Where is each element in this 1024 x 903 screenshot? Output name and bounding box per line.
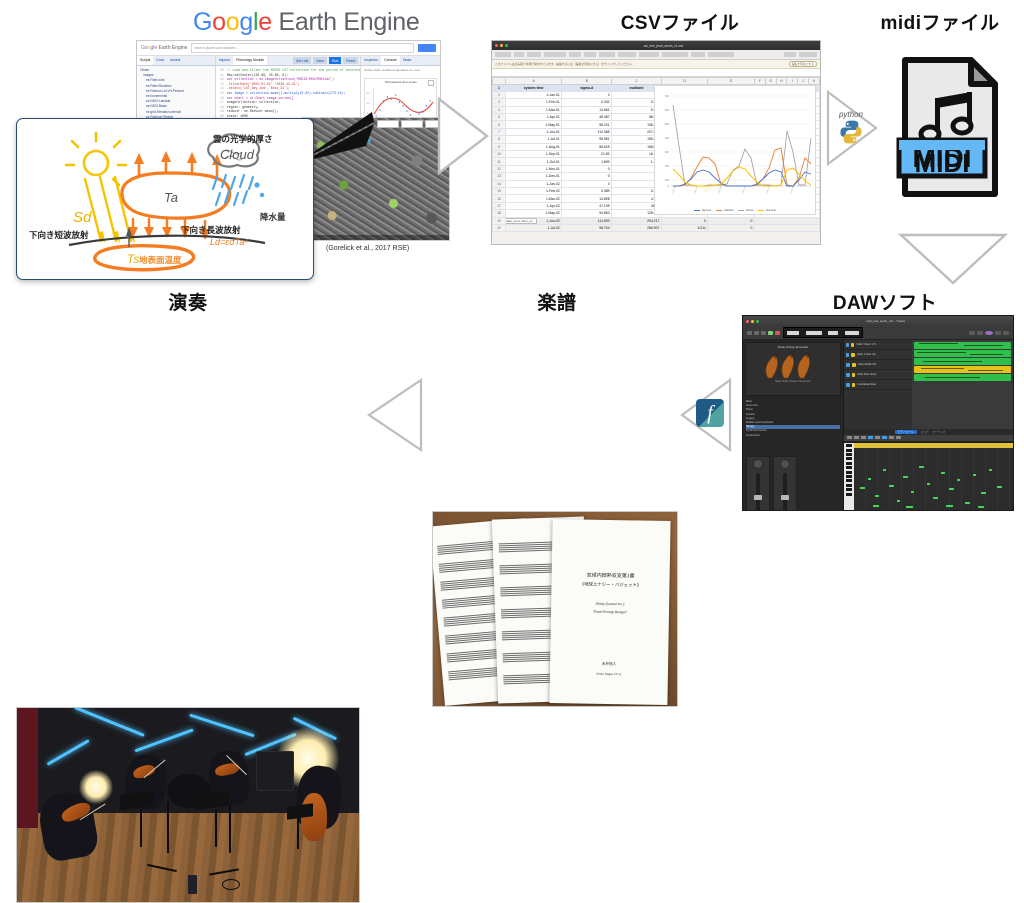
label-longwave-down: 下向き長波放射 — [181, 224, 241, 236]
svg-text:200: 200 — [665, 164, 670, 168]
cell-date: 1-Apr-02 — [506, 202, 562, 209]
svg-text:700: 700 — [665, 94, 670, 98]
mute-button[interactable] — [846, 363, 850, 367]
transport-rewind[interactable] — [747, 331, 752, 335]
stage-curtain — [17, 708, 38, 828]
gee-right-tabs[interactable]: Inspector Console Tasks — [361, 56, 440, 66]
track-header-row[interactable]: Viola Studio Strings — [844, 360, 912, 370]
mic-stand — [229, 805, 231, 853]
svg-text:300: 300 — [665, 150, 670, 154]
piano-roll-toolbar[interactable] — [844, 435, 1013, 442]
embedded-line-chart[interactable]: 700600 500400 300200 1000 1-Jan-01 — [654, 85, 816, 215]
cell-sigma: 21.83 — [562, 151, 612, 158]
svg-text:0.6: 0.6 — [367, 93, 371, 95]
transport-stop[interactable] — [761, 331, 766, 335]
heading-daw: DAWソフト — [805, 288, 965, 315]
svg-text:600: 600 — [665, 108, 670, 112]
music-stand-pole — [297, 819, 299, 849]
transport-play[interactable] — [768, 331, 773, 335]
legend-item: showa — [738, 209, 753, 212]
midi-badge-label: MIDI — [899, 150, 985, 176]
mute-button[interactable] — [846, 373, 850, 377]
spreadsheet-ribbon[interactable] — [492, 50, 820, 60]
mute-button[interactable] — [846, 383, 850, 387]
neon-light — [189, 713, 255, 737]
cell-header-sigma[interactable]: sigma-d — [562, 84, 612, 91]
solo-button[interactable] — [852, 373, 856, 377]
track-header-row[interactable]: Contrabass Ensemble — [844, 380, 912, 390]
cell-svalbard: 254.217 — [612, 217, 662, 224]
legend-item: sigma-d — [694, 209, 711, 212]
piano-roll-grid[interactable] — [854, 448, 1013, 511]
cell-date: 1-Jun-02 — [506, 217, 562, 224]
cell-sigma: 98.764 — [562, 224, 612, 231]
violin-artwork-icon — [758, 350, 828, 380]
daw-title-bar: midi_and_audio_mix - Tracks — [743, 316, 1013, 326]
score-title-page: 気候内部熱収支第1番 《地球エナジー・バジェット》 String Quartet… — [549, 519, 670, 705]
transport-lcd-display[interactable] — [783, 327, 863, 338]
finale-logo-icon: f — [696, 399, 724, 427]
finale-letter: f — [707, 402, 713, 425]
label-shortwave-down: 下向き短波放射 — [29, 229, 89, 241]
label-precipitation: 降水量 — [260, 211, 286, 223]
tab-docs[interactable]: Docs — [153, 56, 167, 65]
sheet-music-photo: 気候内部熱収支第1番 《地球エナジー・バジェット》 String Quartet… — [432, 511, 678, 707]
tab-audio[interactable]: オーディオ — [932, 430, 945, 434]
cell-date: 1-Jun-01 — [506, 128, 562, 135]
python-label: python — [828, 110, 874, 119]
midi-region[interactable] — [914, 358, 1011, 365]
legend-item: domefuji — [758, 209, 775, 212]
mute-button[interactable] — [846, 353, 849, 357]
library-category[interactable]: Synthesizer — [746, 434, 840, 438]
maximize-icon[interactable] — [756, 320, 759, 323]
cell-sigma: 1.609 — [562, 158, 612, 165]
svg-text:0.4: 0.4 — [367, 103, 371, 105]
button-reset[interactable]: Reset — [343, 57, 358, 64]
volume-fader[interactable] — [756, 473, 760, 511]
svg-text:100: 100 — [665, 178, 670, 182]
cell-sigma: 0.389 — [562, 187, 612, 194]
tab-phenology-module[interactable]: Phenology Module — [233, 56, 267, 65]
cell-date: 1-Oct-01 — [506, 158, 562, 165]
cell-date: 1-Nov-01 — [506, 165, 562, 172]
arrange-area[interactable]: Violin 1 Sect. 2 Studio Str. Violin 2 Se… — [844, 340, 1013, 429]
cable-coil — [222, 879, 240, 890]
button-save[interactable]: Save — [313, 57, 327, 64]
cell-date: 1-Jul-02 — [506, 224, 562, 231]
minimize-icon[interactable] — [500, 44, 503, 47]
maximize-icon[interactable] — [505, 44, 508, 47]
solo-button[interactable] — [851, 343, 854, 347]
citation-text: (Gorelick et al., 2017 RSE) — [326, 245, 409, 252]
score-author-jp: 永井拓人 — [550, 661, 668, 668]
arrow-score-to-performance — [367, 378, 423, 452]
label-surface-temperature: 地表面温度 — [139, 254, 182, 266]
spreadsheet-window[interactable]: sw_rise_prod_anom_v1.csv このファイルは読み取り専用で開… — [491, 40, 821, 245]
cell-sigma: 98.241 — [562, 121, 612, 128]
label-ts: Ts — [127, 252, 139, 266]
music-stand-pole — [215, 809, 217, 847]
label-cloud: Cloud — [220, 147, 254, 162]
arrange-regions[interactable] — [912, 340, 1013, 429]
guitar-amp — [256, 751, 294, 791]
cell-date: 1-Apr-01 — [506, 114, 562, 121]
track-header-row[interactable]: Violin 2 Sect. Ensemble — [844, 350, 912, 360]
cell-date: 1-Sep-01 — [506, 151, 562, 158]
label-longwave-formula: Ld=εσTa⁴ — [210, 237, 248, 247]
daw-left-pane[interactable]: Studio Strings Ensemble Mass Violin Clas… — [743, 340, 844, 511]
midi-region[interactable] — [914, 350, 1011, 357]
table-row[interactable]: 201-Jul-0298.764266.9076.2110 — [493, 224, 820, 231]
cell-sigma: 0 — [562, 91, 612, 98]
legend-item: svalbard — [716, 209, 733, 212]
table-row[interactable]: 191-Jun-02111.509254.21700 — [493, 217, 820, 224]
svg-text:1-Jan-05: 1-Jan-05 — [766, 185, 771, 194]
cell-sigma: 0 — [562, 180, 612, 187]
map-attribution — [303, 235, 449, 240]
music-stand-top — [195, 791, 229, 811]
gee-search-input[interactable]: search places and datasets... — [191, 43, 414, 53]
arrow-gee-to-csv — [437, 97, 489, 175]
midi-file-icon: MIDI — [895, 52, 1005, 207]
daw-transport-toolbar[interactable] — [743, 326, 1013, 340]
cell-date: 1-Mar-02 — [506, 195, 562, 202]
heading-csv: CSVファイル — [590, 8, 770, 35]
channel-strip[interactable]: Stereo Out — [746, 456, 770, 511]
mic-stand — [167, 801, 169, 853]
button-get-link[interactable]: Get Link — [293, 57, 312, 64]
piano-roll-editor[interactable] — [844, 442, 1013, 511]
piano-keyboard[interactable] — [844, 443, 854, 511]
instrument-cello — [301, 793, 327, 841]
cell-date: 1-Feb-02 — [506, 187, 562, 194]
cell-sigma: 48.487 — [562, 114, 612, 121]
heading-score: 楽譜 — [487, 288, 627, 315]
daw-right-pane[interactable]: Violin 1 Sect. 2 Studio Str. Violin 2 Se… — [844, 340, 1013, 511]
chart-legend: sigma-d svalbard showa domefuji — [655, 209, 815, 212]
tab-assets[interactable]: Assets — [167, 56, 183, 65]
cell-sigma: 0.332 — [562, 99, 612, 106]
midi-file-svg: MIDI — [895, 52, 1005, 202]
pan-knob[interactable] — [753, 459, 763, 469]
gee-top-bar: Google Earth Engine search places and da… — [137, 41, 440, 56]
cell-sigma: 96.981 — [562, 136, 612, 143]
line-chart-svg: 700600 500400 300200 1000 1-Jan-01 — [655, 86, 815, 214]
tab-console[interactable]: Console — [381, 56, 399, 65]
neon-light — [47, 739, 90, 765]
spreadsheet-title-bar: sw_rise_prod_anom_v1.csv — [492, 41, 820, 50]
tab-tasks[interactable]: Tasks — [400, 56, 415, 65]
label-cloud-thickness: 雲の光学的厚さ — [213, 133, 273, 145]
daw-project-title: midi_and_audio_mix - Tracks — [761, 319, 1010, 323]
cell-showa: 6.211 — [661, 224, 708, 231]
spreadsheet-filename: sw_rise_prod_anom_v1.csv — [510, 44, 817, 48]
cell-date: 1-Dec-01 — [506, 173, 562, 180]
mixer-strips[interactable]: Stereo Out Master — [743, 454, 843, 511]
workflow-diagram: Google Earth Engine CSVファイル midiファイル Goo… — [0, 0, 1024, 523]
library-preview: Studio Strings Ensemble Mass Violin Clas… — [745, 342, 841, 396]
whiteboard-sketch: 雲の光学的厚さ Cloud 降水量 下向き短波放射 下向き長波放射 Ld=εσT… — [16, 118, 314, 280]
solo-button[interactable] — [852, 383, 856, 387]
tab-scripts[interactable]: Scripts — [137, 56, 153, 65]
performance-photo — [16, 707, 360, 903]
score-subtitle-en: "Earth Energy Budget" — [551, 609, 669, 615]
gee-wordmark-rest: Earth Engine — [272, 8, 420, 36]
cell-domefuji: 0 — [708, 217, 755, 224]
track-header-row[interactable]: Cello Sect. Ensemble — [844, 370, 912, 380]
cell-date: 1-Jan-02 — [506, 180, 562, 187]
python-logo-icon — [838, 119, 864, 145]
daw-body: Studio Strings Ensemble Mass Violin Clas… — [743, 340, 1013, 511]
daw-window[interactable]: midi_and_audio_mix - Tracks — [742, 315, 1014, 511]
label-sd: Sd — [73, 209, 91, 226]
svg-text:400: 400 — [665, 136, 670, 140]
neon-light — [135, 729, 194, 752]
score-title-en: String Quartet No.1 — [551, 601, 669, 607]
midi-region[interactable] — [914, 366, 1011, 373]
svg-text:1-Jan-04: 1-Jan-04 — [742, 185, 747, 194]
field-recorder — [188, 875, 197, 894]
chart-expand-icon[interactable] — [428, 80, 434, 86]
readonly-notice-bar[interactable]: このファイルは読み取り専用で開かれています。編集するには［編集を有効にする］をク… — [492, 60, 820, 69]
cell-date: 1-Jul-01 — [506, 136, 562, 143]
gee-app-logo: Google Earth Engine — [141, 45, 187, 51]
track-name: Cello Sect. Ensemble — [857, 373, 875, 376]
row-number: 1 — [493, 84, 506, 91]
heading-performance: 演奏 — [118, 288, 258, 315]
enable-editing-button[interactable]: 編集を有効にする — [789, 61, 817, 67]
tab-score[interactable]: スコア — [921, 430, 929, 434]
tab-inspector[interactable]: Inspector — [361, 56, 381, 65]
solo-button[interactable] — [852, 363, 856, 367]
cell-sigma: 0 — [562, 173, 612, 180]
solo-button[interactable] — [851, 353, 854, 357]
track-headers[interactable]: Violin 1 Sect. 2 Studio Str. Violin 2 Se… — [844, 340, 912, 429]
svg-text:1-Jan-02: 1-Jan-02 — [694, 185, 699, 194]
midi-region[interactable] — [914, 342, 1011, 349]
spreadsheet-grid[interactable]: A B C D E F G H I J K 1 system:time sigm… — [492, 77, 820, 217]
cell-sigma: 94.883 — [562, 210, 612, 217]
score-title-jp: 気候内部熱収支第1番 — [552, 571, 670, 580]
cell-date: 1-May-02 — [506, 210, 562, 217]
file-corner-fold — [971, 60, 995, 84]
cell-sigma: 13.681 — [562, 106, 612, 113]
track-name: Violin 1 Sect. 2 Studio Str. — [856, 343, 875, 346]
close-icon[interactable] — [495, 44, 498, 47]
score-subtitle-jp: 《地球エナジー・バジェット》 — [551, 581, 669, 589]
svg-text:1-Jan-06: 1-Jan-06 — [790, 185, 795, 194]
callout-wedges — [300, 110, 430, 220]
arrow-midi-to-daw — [898, 232, 1008, 286]
gee-console-text: Series chart: surface temperature vs. ti… — [361, 66, 440, 74]
track-header-row[interactable]: Violin 1 Sect. 2 Studio Str. — [844, 340, 912, 350]
midi-region[interactable] — [914, 374, 1011, 381]
library-title: Studio Strings Ensemble — [746, 343, 840, 349]
cell-sigma: 56.629 — [562, 143, 612, 150]
formula-bar[interactable] — [492, 69, 820, 77]
python-badge: python — [828, 110, 874, 145]
cell-svalbard: 266.907 — [612, 224, 662, 231]
library-category-list[interactable]: Bass Drum Kits Piano Guitars Legacy Mall… — [743, 398, 843, 454]
volume-fader[interactable] — [783, 473, 787, 511]
transport-forward[interactable] — [754, 331, 759, 335]
cell-sigma: 112.358 — [562, 128, 612, 135]
cell-date: 1-Jan-01 — [506, 91, 562, 98]
cell-date: 1-Aug-01 — [506, 143, 562, 150]
sun-icon — [66, 133, 126, 185]
readonly-notice-text: このファイルは読み取り専用で開かれています。編集するには［編集を有効にする］をク… — [495, 62, 634, 66]
cell-sigma: 0 — [562, 165, 612, 172]
cell-header-time[interactable]: system:time — [506, 84, 562, 91]
neon-light — [74, 707, 145, 736]
tab-piano-roll[interactable]: ピアノ ロール — [895, 430, 917, 434]
tab-imports[interactable]: Imports — [216, 56, 233, 65]
cell-date: 1-Mar-01 — [506, 106, 562, 113]
cell-showa: 0 — [661, 217, 708, 224]
close-icon[interactable] — [746, 320, 749, 323]
track-name: Contrabass Ensemble — [857, 383, 876, 386]
gee-wordmark: Google Earth Engine — [193, 8, 419, 37]
svg-text:1-Jan-03: 1-Jan-03 — [718, 185, 723, 194]
track-name: Viola Studio Strings — [858, 363, 876, 366]
library-subtitle: Mass Violin Classic 2 Ensemble — [746, 380, 840, 383]
label-ta: Ta — [164, 190, 178, 205]
pan-knob[interactable] — [780, 459, 790, 469]
minimize-icon[interactable] — [751, 320, 754, 323]
cell-sigma: 111.509 — [562, 217, 612, 224]
transport-record[interactable] — [775, 331, 780, 335]
cell-domefuji: 0 — [708, 224, 755, 231]
gee-center-tabs[interactable]: Imports Phenology Module Get Link Save R… — [216, 56, 360, 66]
button-run[interactable]: Run — [329, 57, 341, 64]
mute-button[interactable] — [846, 343, 849, 347]
score-author-en: Hiroto Nagai, Ph.D. — [550, 671, 668, 677]
svg-text:1-Jan-01: 1-Jan-01 — [672, 185, 677, 194]
music-stand-pole — [140, 809, 142, 847]
cell-date: 1-Feb-01 — [506, 99, 562, 106]
heading-midi: midiファイル — [860, 8, 1020, 35]
track-name: Violin 2 Sect. Ensemble — [857, 353, 876, 356]
midi-badge-cover — [899, 140, 985, 150]
svg-text:500: 500 — [665, 122, 670, 126]
cell-sigma: 13.898 — [562, 195, 612, 202]
channel-strip[interactable]: Master — [773, 456, 797, 511]
cell-date: 1-May-01 — [506, 121, 562, 128]
gee-left-tabs[interactable]: Scripts Docs Assets — [137, 56, 215, 66]
cell-sigma: 47.199 — [562, 202, 612, 209]
svg-text:0: 0 — [668, 184, 670, 188]
search-icon[interactable] — [418, 44, 436, 52]
